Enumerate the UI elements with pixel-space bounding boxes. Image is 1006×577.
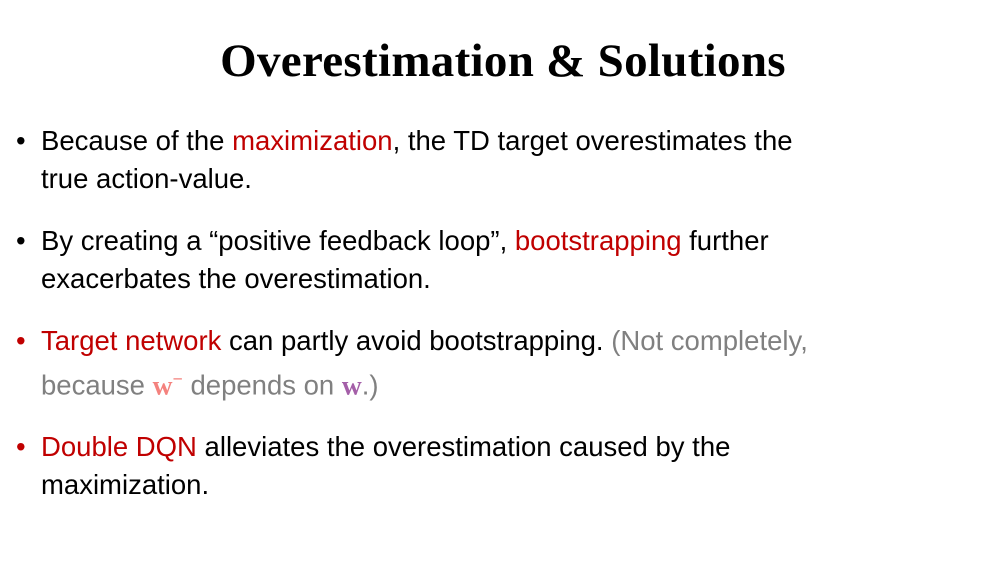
bullet-item: •By creating a “positive feedback loop”,…	[0, 222, 1006, 298]
bullet-list: •Because of the maximization, the TD tar…	[0, 122, 1006, 504]
bullet-line: Double DQN alleviates the overestimation…	[41, 428, 1006, 466]
bullet-line: Because of the maximization, the TD targ…	[41, 122, 1006, 160]
text-run-black: can partly avoid bootstrapping.	[221, 325, 611, 356]
bullet-text: By creating a “positive feedback loop”, …	[41, 222, 1006, 298]
text-run-gray: depends on	[183, 369, 342, 400]
bullet-line: By creating a “positive feedback loop”, …	[41, 222, 1006, 260]
bullet-marker-icon: •	[16, 122, 32, 160]
text-run-black: exacerbates the overestimation.	[41, 263, 431, 294]
bullet-marker-icon: •	[16, 222, 32, 260]
text-run-red: Target network	[41, 325, 221, 356]
text-run-black: true action-value.	[41, 163, 252, 194]
bullet-item: •Target network can partly avoid bootstr…	[0, 322, 1006, 404]
text-run-black: Because of the	[41, 125, 232, 156]
text-run-gray: .)	[362, 369, 379, 400]
bullet-text: Target network can partly avoid bootstra…	[41, 322, 1006, 404]
bullet-line: Target network can partly avoid bootstra…	[41, 322, 1006, 360]
text-run-black: , the TD target overestimates the	[393, 125, 793, 156]
text-run-purple: w	[342, 369, 362, 400]
text-run-gray: because	[41, 369, 153, 400]
bullet-text: Double DQN alleviates the overestimation…	[41, 428, 1006, 504]
presentation-slide: Overestimation & Solutions •Because of t…	[0, 0, 1006, 577]
text-run-salmon: w	[153, 369, 173, 400]
bullet-line: maximization.	[41, 466, 1006, 504]
bullet-item: •Double DQN alleviates the overestimatio…	[0, 428, 1006, 504]
text-run-gray: (Not completely,	[611, 325, 808, 356]
text-run-red: Double DQN	[41, 431, 197, 462]
page-title: Overestimation & Solutions	[0, 33, 1006, 89]
text-run-black: further	[682, 225, 769, 256]
bullet-line: true action-value.	[41, 160, 1006, 198]
bullet-line: exacerbates the overestimation.	[41, 260, 1006, 298]
text-run-red: bootstrapping	[515, 225, 682, 256]
text-run-black: alleviates the overestimation caused by …	[197, 431, 731, 462]
bullet-text: Because of the maximization, the TD targ…	[41, 122, 1006, 198]
bullet-item: •Because of the maximization, the TD tar…	[0, 122, 1006, 198]
text-run-black: By creating a “positive feedback loop”,	[41, 225, 515, 256]
bullet-line: because w− depends on w.)	[41, 360, 1006, 404]
superscript-minus: −	[173, 369, 183, 389]
text-run-red: maximization	[232, 125, 392, 156]
bullet-marker-icon: •	[16, 322, 32, 360]
bullet-marker-icon: •	[16, 428, 32, 466]
text-run-black: maximization.	[41, 469, 209, 500]
